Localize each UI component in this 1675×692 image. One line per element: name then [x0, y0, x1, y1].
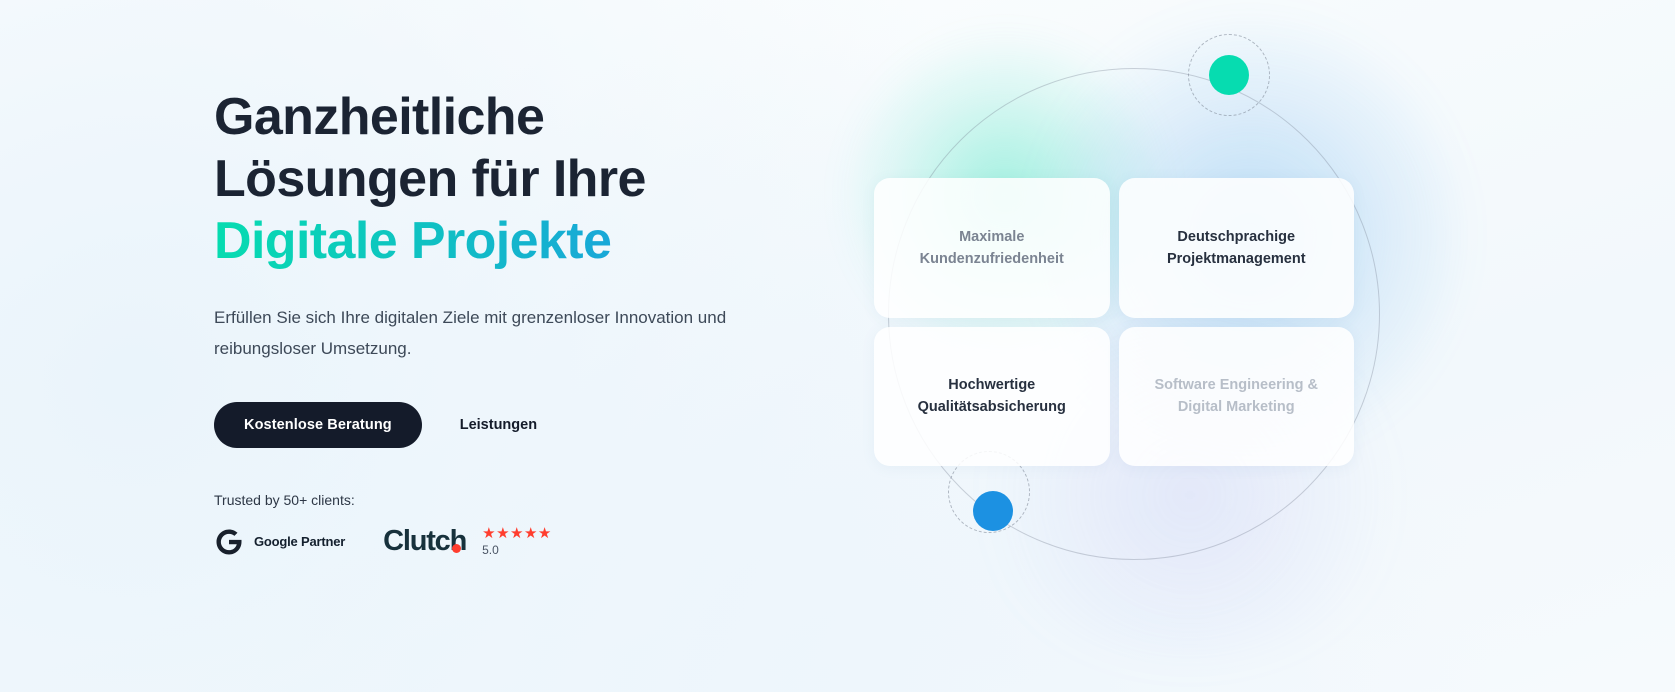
- card-line-2: Digital Marketing: [1154, 396, 1318, 418]
- teal-node-dot: [1209, 55, 1249, 95]
- card-line-1: Deutschprachige: [1167, 226, 1306, 248]
- hero-subtitle: Erfüllen Sie sich Ihre digitalen Ziele m…: [214, 302, 774, 364]
- page-title: Ganzheitliche Lösungen für Ihre Digitale…: [214, 86, 814, 272]
- headline-line-3-accent: Digitale Projekte: [214, 210, 814, 272]
- headline-line-1: Ganzheitliche: [214, 86, 814, 148]
- card-line-1: Maximale: [920, 226, 1064, 248]
- hero-visual: Maximale Kundenzufriedenheit Deutschprac…: [820, 0, 1460, 692]
- clutch-score-value: 5.0: [482, 543, 552, 557]
- feature-card-qualitaetsabsicherung[interactable]: Hochwertige Qualitätsabsicherung: [874, 327, 1110, 467]
- card-line-2: Projektmanagement: [1167, 248, 1306, 270]
- clutch-rating: ★★★★★ 5.0: [482, 526, 552, 557]
- headline-line-2: Lösungen für Ihre: [214, 148, 814, 210]
- blue-node-dot: [973, 491, 1013, 531]
- feature-card-software-engineering[interactable]: Software Engineering & Digital Marketing: [1119, 327, 1355, 467]
- kostenlose-beratung-button[interactable]: Kostenlose Beratung: [214, 402, 422, 448]
- trusted-by-label: Trusted by 50+ clients:: [214, 492, 814, 508]
- google-partner-label: Google Partner: [254, 534, 345, 549]
- clutch-wordmark: Clutch: [383, 527, 466, 556]
- hero-copy-column: Ganzheitliche Lösungen für Ihre Digitale…: [214, 86, 814, 557]
- google-partner-badge[interactable]: Google Partner: [214, 527, 345, 557]
- star-rating-icon: ★★★★★: [482, 526, 552, 541]
- card-text: Hochwertige Qualitätsabsicherung: [918, 374, 1066, 418]
- card-text: Maximale Kundenzufriedenheit: [920, 226, 1064, 270]
- cta-row: Kostenlose Beratung Leistungen: [214, 402, 814, 448]
- hero-section: Ganzheitliche Lösungen für Ihre Digitale…: [0, 0, 1675, 692]
- trust-logos-row: Google Partner Clutch ★★★★★ 5.0: [214, 526, 814, 557]
- feature-card-grid: Maximale Kundenzufriedenheit Deutschprac…: [874, 178, 1354, 466]
- card-text: Software Engineering & Digital Marketing: [1154, 374, 1318, 418]
- clutch-badge[interactable]: Clutch ★★★★★ 5.0: [383, 526, 552, 557]
- feature-card-projektmanagement[interactable]: Deutschprachige Projektmanagement: [1119, 178, 1355, 318]
- feature-card-kundenzufriedenheit[interactable]: Maximale Kundenzufriedenheit: [874, 178, 1110, 318]
- card-text: Deutschprachige Projektmanagement: [1167, 226, 1306, 270]
- google-g-icon: [214, 527, 244, 557]
- card-line-2: Kundenzufriedenheit: [920, 248, 1064, 270]
- leistungen-link[interactable]: Leistungen: [460, 417, 537, 433]
- card-line-1: Software Engineering &: [1154, 374, 1318, 396]
- card-line-1: Hochwertige: [918, 374, 1066, 396]
- card-line-2: Qualitätsabsicherung: [918, 396, 1066, 418]
